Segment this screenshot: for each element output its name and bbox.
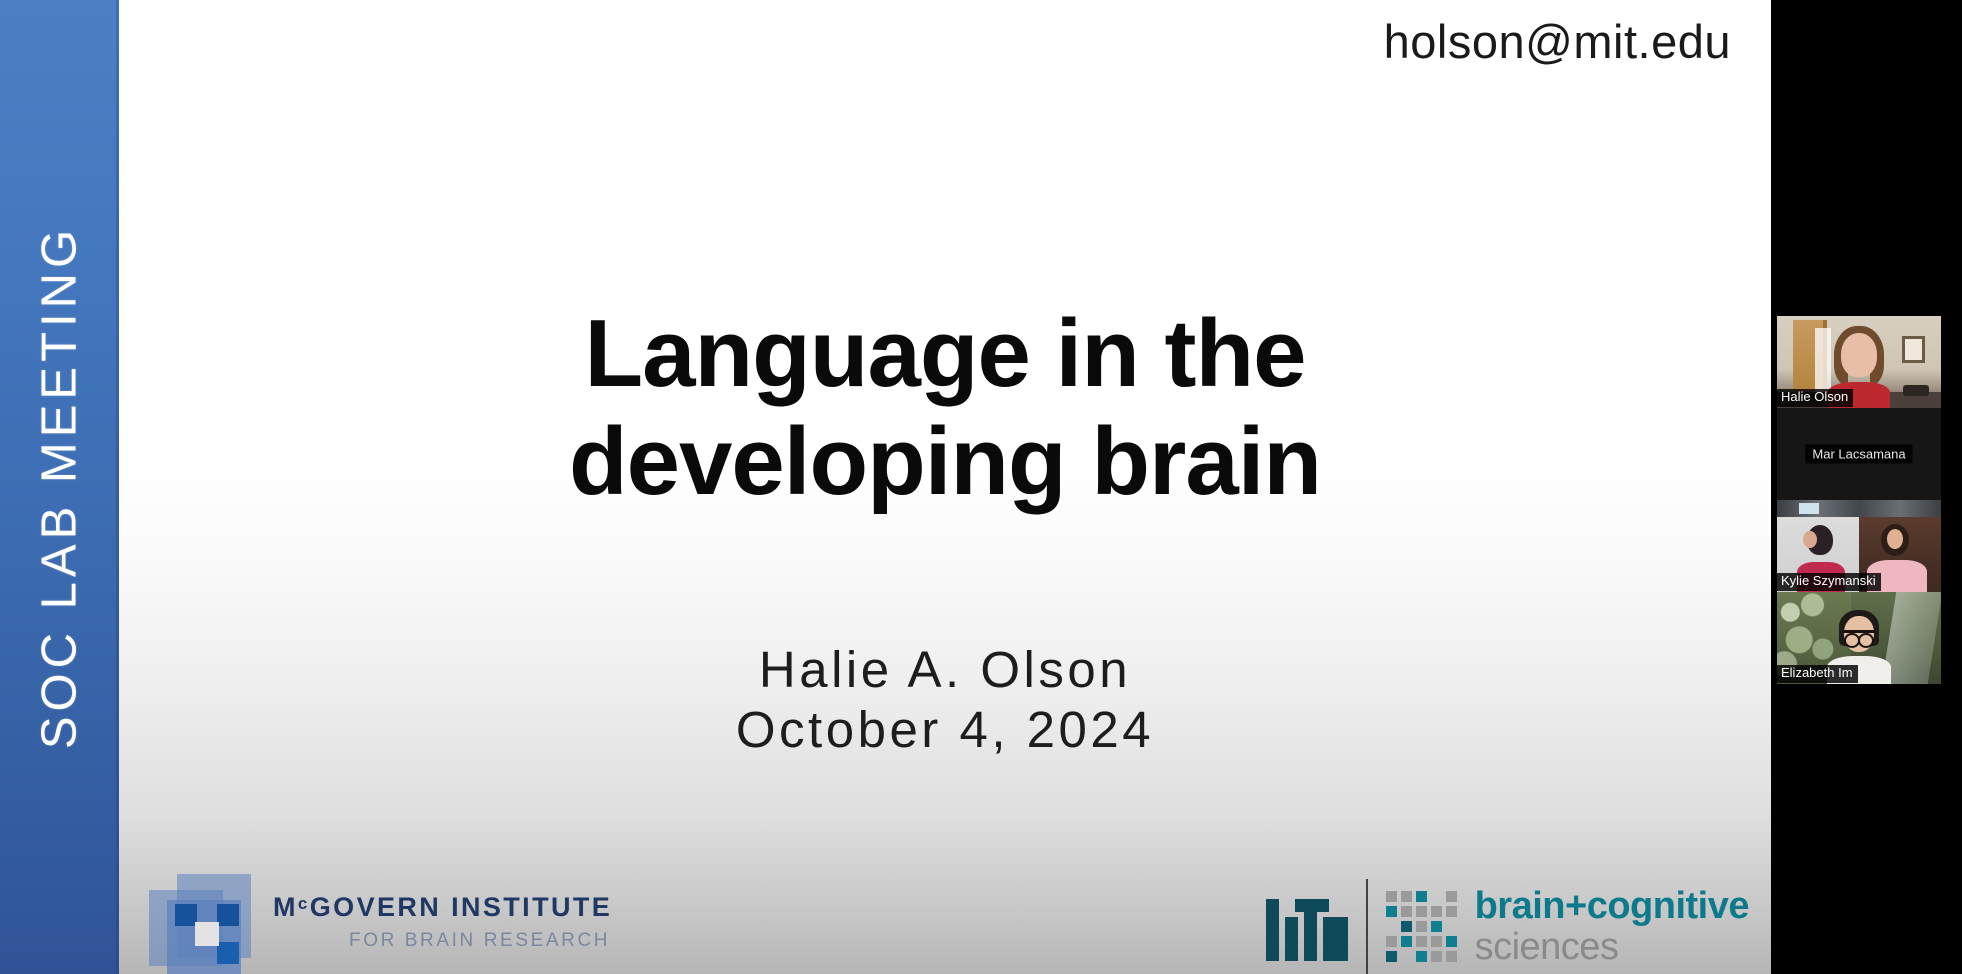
- participant-tile-strip: Halie Olson Mar Lacsamana Kylie Szymansk…: [1777, 316, 1941, 684]
- mcgovern-logo-mark-icon: [149, 866, 257, 974]
- mcgovern-title-rest: GOVERN INSTITUTE: [310, 892, 612, 922]
- bcs-wordmark-line-2: sciences: [1475, 928, 1749, 966]
- presentation-slide: SOC LAB MEETING holson@mit.edu Language …: [0, 0, 1771, 974]
- participant-tile[interactable]: Halie Olson: [1777, 316, 1941, 408]
- mit-logo-icon: [1266, 893, 1348, 961]
- presenter-name: Halie A. Olson: [119, 640, 1771, 700]
- bcs-wordmark-line-1: brain+cognitive: [1475, 887, 1749, 925]
- participant-video-panel: Halie Olson Mar Lacsamana Kylie Szymansk…: [1771, 0, 1962, 974]
- participant-name-label: Elizabeth Im: [1777, 665, 1858, 683]
- participant-name-label: Mar Lacsamana: [1805, 445, 1912, 464]
- slide-title-line-1: Language in the: [119, 300, 1771, 408]
- participant-name-label: Halie Olson: [1777, 389, 1853, 407]
- mcgovern-title-m: M: [273, 892, 298, 922]
- video-background-door: [1793, 320, 1827, 394]
- slide-title-line-2: developing brain: [119, 408, 1771, 516]
- mcgovern-wordmark: McGOVERN INSTITUTE FOR BRAIN RESEARCH: [273, 892, 612, 952]
- mit-bcs-logo: brain+cognitive sciences: [1266, 879, 1749, 974]
- participant-name-label: Kylie Szymanski: [1777, 573, 1881, 591]
- mcgovern-logo-title: McGOVERN INSTITUTE: [273, 892, 612, 923]
- participant-tile[interactable]: Kylie Szymanski: [1777, 500, 1941, 592]
- slide-title: Language in the developing brain: [119, 300, 1771, 515]
- logo-divider: [1366, 879, 1368, 974]
- participant-tile[interactable]: Mar Lacsamana: [1777, 408, 1941, 500]
- screen-share-view: SOC LAB MEETING holson@mit.edu Language …: [0, 0, 1962, 974]
- contact-email: holson@mit.edu: [1384, 14, 1731, 69]
- mcgovern-title-sup: c: [298, 894, 310, 913]
- slide-sidebar-label: SOC LAB MEETING: [35, 225, 84, 749]
- slide-content-area: holson@mit.edu Language in the developin…: [119, 0, 1771, 974]
- bcs-wordmark: brain+cognitive sciences: [1475, 887, 1749, 966]
- video-background-shelf: [1777, 500, 1941, 517]
- mcgovern-institute-logo: McGOVERN INSTITUTE FOR BRAIN RESEARCH: [149, 866, 612, 974]
- mcgovern-logo-subtitle: FOR BRAIN RESEARCH: [349, 930, 612, 952]
- slide-sidebar-band: SOC LAB MEETING: [0, 0, 119, 974]
- bcs-mosaic-icon: [1386, 891, 1457, 962]
- participant-tile[interactable]: Elizabeth Im: [1777, 592, 1941, 684]
- glasses-icon: [1844, 630, 1874, 644]
- presentation-date: October 4, 2024: [119, 700, 1771, 760]
- video-background-picture-frame: [1902, 336, 1925, 363]
- slide-byline: Halie A. Olson October 4, 2024: [119, 640, 1771, 760]
